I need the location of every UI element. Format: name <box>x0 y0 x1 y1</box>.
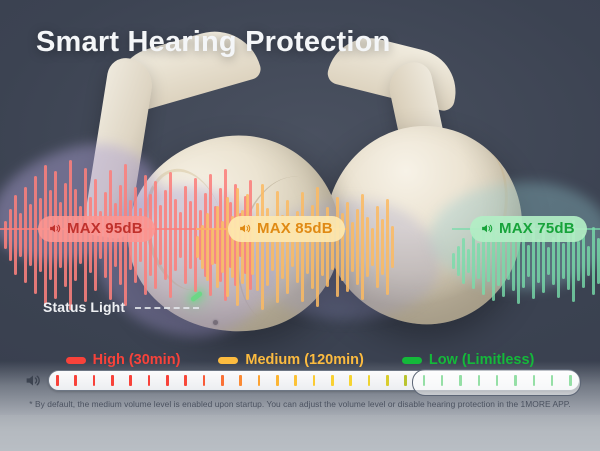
waveform-bar <box>477 243 480 279</box>
badge-max-75db: MAX 75dB <box>470 216 587 242</box>
volume-tick <box>56 375 59 386</box>
volume-tick <box>331 375 334 386</box>
waveform-bar <box>316 187 319 307</box>
waveform-bar <box>19 213 22 257</box>
volume-tick <box>129 375 132 386</box>
waveform-bar <box>452 253 455 269</box>
speaker-icon <box>24 372 42 389</box>
waveform-bar <box>361 194 364 300</box>
waveform-bar <box>34 176 37 294</box>
waveform-bar <box>467 249 470 273</box>
waveform-bar <box>497 236 500 286</box>
waveform-bar <box>184 186 187 284</box>
volume-tick <box>74 375 77 386</box>
waveform-bar <box>592 227 595 295</box>
waveform-bar <box>356 209 359 285</box>
waveform-bar <box>351 222 354 272</box>
legend-swatch-medium <box>218 357 238 364</box>
waveform-bar <box>246 194 249 300</box>
volume-tick <box>203 375 206 386</box>
legend-label: Low (Limitless) <box>429 352 535 368</box>
waveform-bar <box>14 195 17 275</box>
volume-tick <box>239 375 242 386</box>
waveform-bar <box>226 197 229 297</box>
volume-tick <box>441 375 444 386</box>
volume-tick <box>551 375 554 386</box>
waveform-bar <box>537 239 540 283</box>
volume-tick <box>184 375 187 386</box>
waveform-bar <box>376 206 379 288</box>
volume-tick <box>386 375 389 386</box>
waveform-bar <box>472 233 475 289</box>
legend: High (30min) Medium (120min) Low (Limitl… <box>0 350 600 370</box>
waveform-bar <box>261 184 264 310</box>
legend-item-high: High (30min) <box>66 352 181 368</box>
badge-label: MAX 75dB <box>499 220 575 237</box>
volume-tick <box>276 375 279 386</box>
waveform-bar <box>236 188 239 306</box>
volume-tick <box>221 375 224 386</box>
volume-tick <box>423 375 426 386</box>
waveform-bar <box>196 236 199 258</box>
volume-tick <box>294 375 297 386</box>
legend-label: Medium (120min) <box>245 352 363 368</box>
waveform-low <box>452 176 600 346</box>
waveform-medium <box>196 162 394 332</box>
volume-tick <box>313 375 316 386</box>
waveform-bar <box>391 226 394 268</box>
waveform-bar <box>366 217 369 277</box>
badge-label: MAX 95dB <box>67 220 143 237</box>
volume-tick <box>368 375 371 386</box>
waveform-bar <box>301 192 304 302</box>
badge-max-85db: MAX 85dB <box>228 216 345 242</box>
volume-tick <box>533 375 536 386</box>
waveform-bar <box>582 234 585 288</box>
waveform-bar <box>587 246 590 276</box>
waveform-bar <box>189 201 192 269</box>
waveform-bar <box>216 206 219 288</box>
waveform-bar <box>462 238 465 284</box>
waveform-bar <box>371 228 374 266</box>
waveform-bar <box>206 213 209 281</box>
volume-control-row[interactable] <box>24 368 580 392</box>
waveform-bar <box>174 199 177 271</box>
waveform-bar <box>159 205 162 265</box>
waveform-bar <box>507 242 510 280</box>
volume-ticks <box>56 371 572 390</box>
badge-max-95db: MAX 95dB <box>38 216 155 242</box>
waveform-bar <box>286 200 289 294</box>
page-title: Smart Hearing Protection <box>36 26 391 59</box>
status-light-label: Status Light <box>43 299 125 315</box>
legend-item-low: Low (Limitless) <box>402 352 535 368</box>
volume-tick <box>148 375 151 386</box>
waveform-bar <box>487 240 490 282</box>
speaker-icon <box>480 222 494 235</box>
waveform-bar <box>562 243 565 279</box>
waveform-bar <box>201 225 204 269</box>
legend-swatch-low <box>402 357 422 364</box>
waveform-bar <box>577 241 580 281</box>
waveform-bar <box>527 245 530 277</box>
waveform-bar <box>169 172 172 298</box>
volume-tick <box>478 375 481 386</box>
volume-slider[interactable] <box>48 370 580 391</box>
legend-label: High (30min) <box>93 352 181 368</box>
volume-tick <box>496 375 499 386</box>
waveform-bar <box>24 187 27 283</box>
waveform-bar <box>386 199 389 295</box>
badge-label: MAX 85dB <box>257 220 333 237</box>
promo-graphic: Smart Hearing Protection MAX 95dB MAX 85… <box>0 0 600 451</box>
waveform-bar <box>547 247 550 275</box>
speaker-icon <box>48 222 62 235</box>
legend-item-medium: Medium (120min) <box>218 352 363 368</box>
volume-tick <box>111 375 114 386</box>
waveform-bar <box>4 221 7 249</box>
waveform-bar <box>381 219 384 275</box>
status-light-leader-line <box>135 307 199 309</box>
volume-tick <box>569 375 572 386</box>
volume-tick <box>404 375 407 386</box>
waveform-bar <box>164 190 167 280</box>
legend-swatch-high <box>66 357 86 364</box>
waveform-bar <box>9 209 12 261</box>
footnote: * By default, the medium volume level is… <box>0 399 600 409</box>
waveform-bar <box>211 229 214 265</box>
waveform-bar <box>29 204 32 266</box>
waveform-bar <box>179 212 182 258</box>
volume-tick <box>459 375 462 386</box>
volume-tick <box>258 375 261 386</box>
speaker-icon <box>238 222 252 235</box>
waveform-bar <box>552 237 555 285</box>
waveform-bar <box>457 246 460 276</box>
volume-tick <box>93 375 96 386</box>
volume-tick <box>514 375 517 386</box>
volume-tick <box>166 375 169 386</box>
waveform-bar <box>154 181 157 289</box>
waveform-bar <box>336 197 339 297</box>
waveform-bar <box>346 202 349 292</box>
volume-tick <box>349 375 352 386</box>
waveform-bar <box>522 234 525 288</box>
bottom-band <box>0 415 600 451</box>
waveform-bar <box>276 191 279 303</box>
